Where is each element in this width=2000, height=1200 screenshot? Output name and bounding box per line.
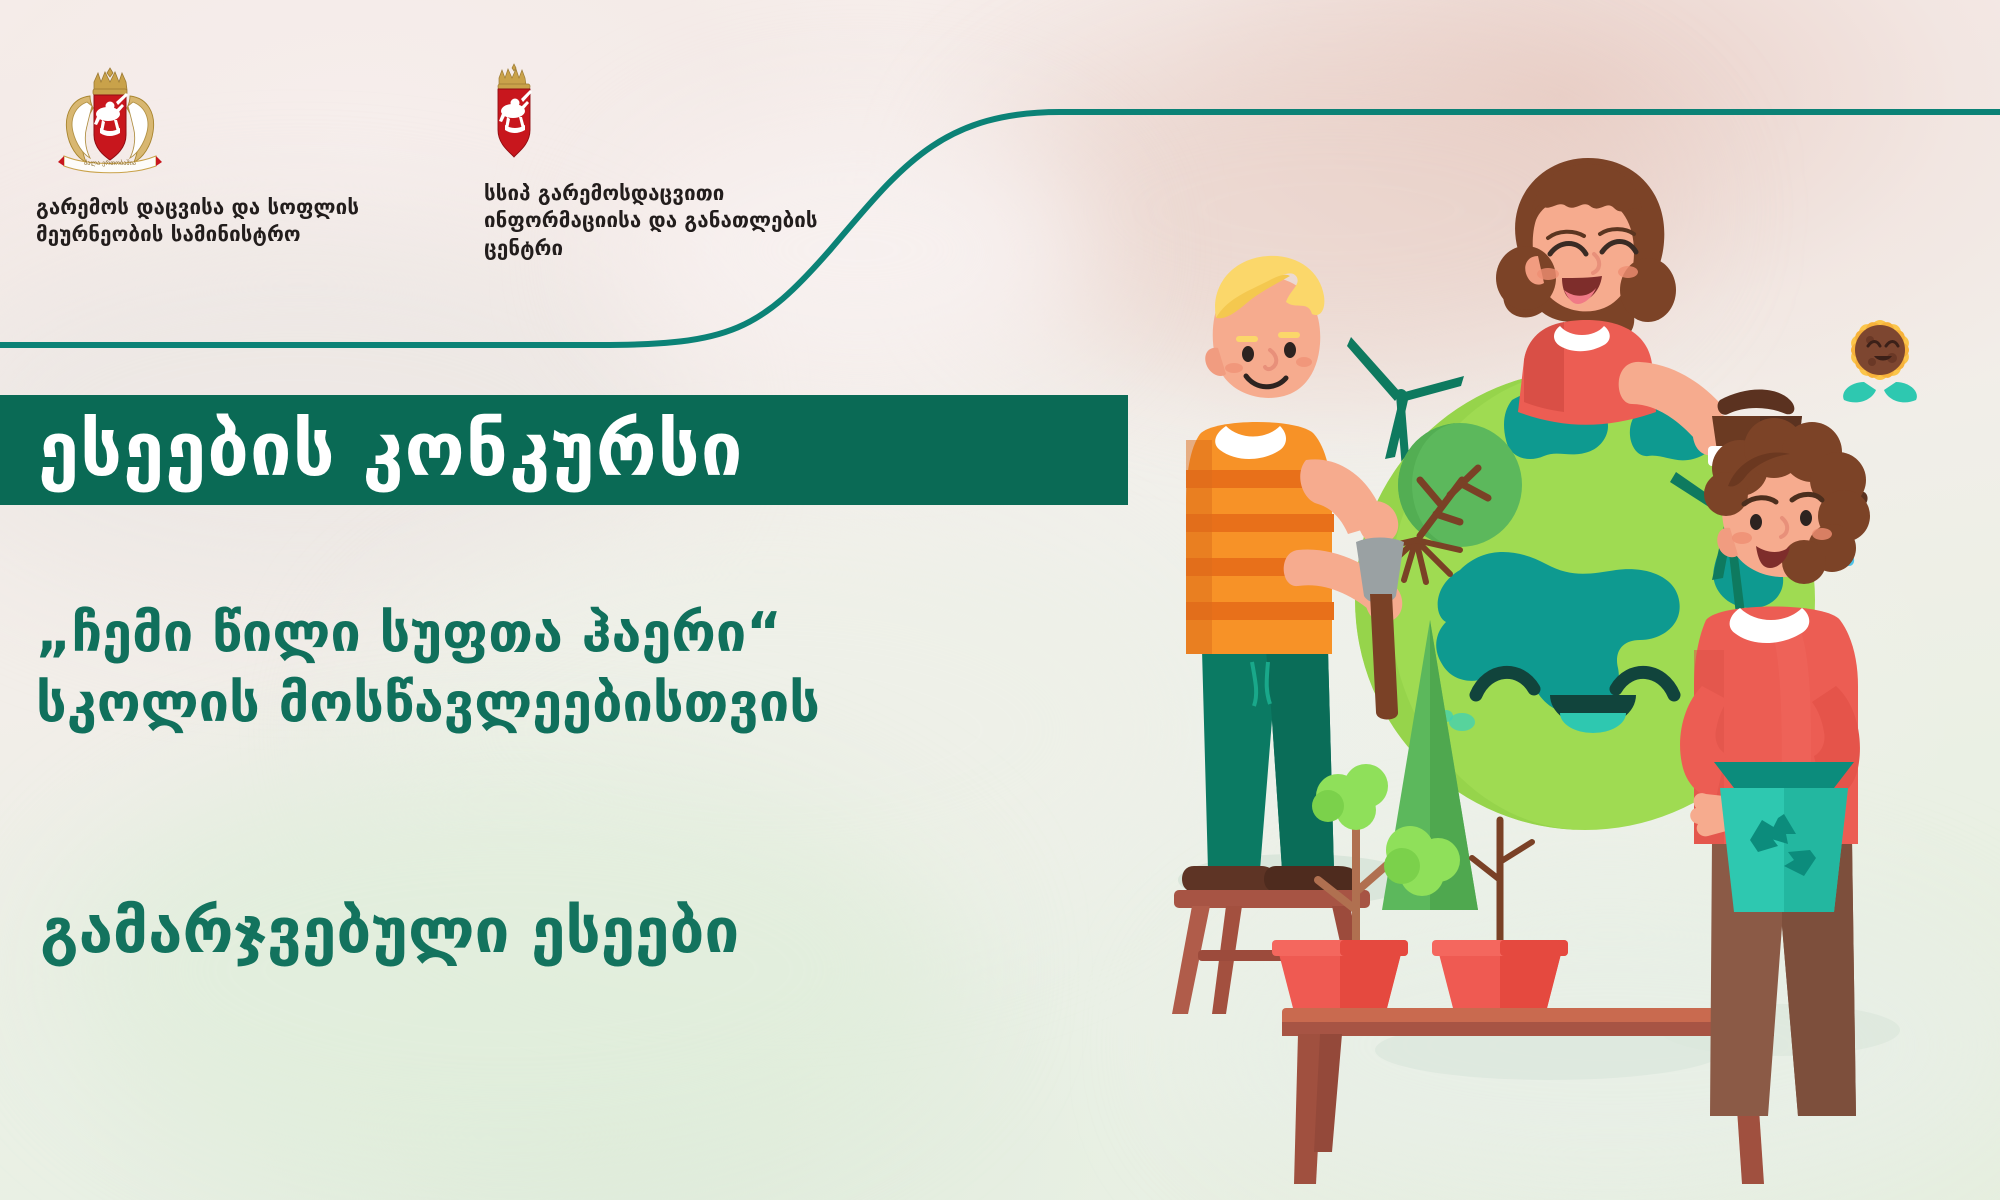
wooden-table: [1282, 1008, 1774, 1184]
children-planting-earth-illustration: [1120, 150, 2000, 1200]
potted-sapling-right: [1472, 820, 1532, 940]
sunflower: [1843, 317, 1917, 402]
plant-pot-right: [1432, 940, 1568, 1012]
logo-center: სსიპ გარემოსდაცვითი ინფორმაციისა და განა…: [484, 62, 834, 262]
logo-row: ძალა ერთობაშია გარემოს დაცვისა და სოფლის…: [0, 0, 900, 300]
poster-canvas: ძალა ერთობაშია გარემოს დაცვისა და სოფლის…: [0, 0, 2000, 1200]
shoe-left: [1182, 866, 1276, 892]
logo-ministry-label: გარემოს დაცვისა და სოფლის მეურნეობის სამ…: [36, 194, 366, 249]
girl-with-watering-can: [1496, 158, 1736, 456]
eye: [1242, 346, 1254, 362]
plant-pot-left: [1272, 940, 1408, 1012]
footer-headline: გამარჯვებული ესეები: [40, 900, 1180, 962]
background-smudge: [60, 760, 960, 1180]
eye: [1284, 342, 1296, 358]
georgia-small-coat-of-arms-icon: [486, 62, 542, 166]
headline-banner: ესეების კონკურსი: [0, 395, 1128, 505]
svg-text:ძალა ერთობაშია: ძალა ერთობაშია: [84, 158, 136, 167]
georgia-coat-of-arms-icon: ძალა ერთობაშია: [50, 62, 170, 180]
sunflower-center: [1855, 325, 1905, 375]
subtitle-line-2: სკოლის მოსწავლეებისთვის: [36, 668, 1176, 738]
subtitle-line-1: „ჩემი წილი სუფთა ჰაერი“: [36, 598, 1176, 668]
logo-center-label: სსიპ გარემოსდაცვითი ინფორმაციისა და განა…: [484, 180, 824, 262]
logo-ministry: ძალა ერთობაშია გარემოს დაცვისა და სოფლის…: [36, 62, 366, 249]
shoe-right: [1264, 866, 1360, 892]
subtitle-block: „ჩემი წილი სუფთა ჰაერი“ სკოლის მოსწავლეე…: [36, 598, 1176, 738]
recycling-bin: [1714, 762, 1854, 912]
eye: [1750, 514, 1762, 530]
page-title: ესეების კონკურსი: [0, 413, 743, 487]
eye: [1800, 510, 1812, 526]
